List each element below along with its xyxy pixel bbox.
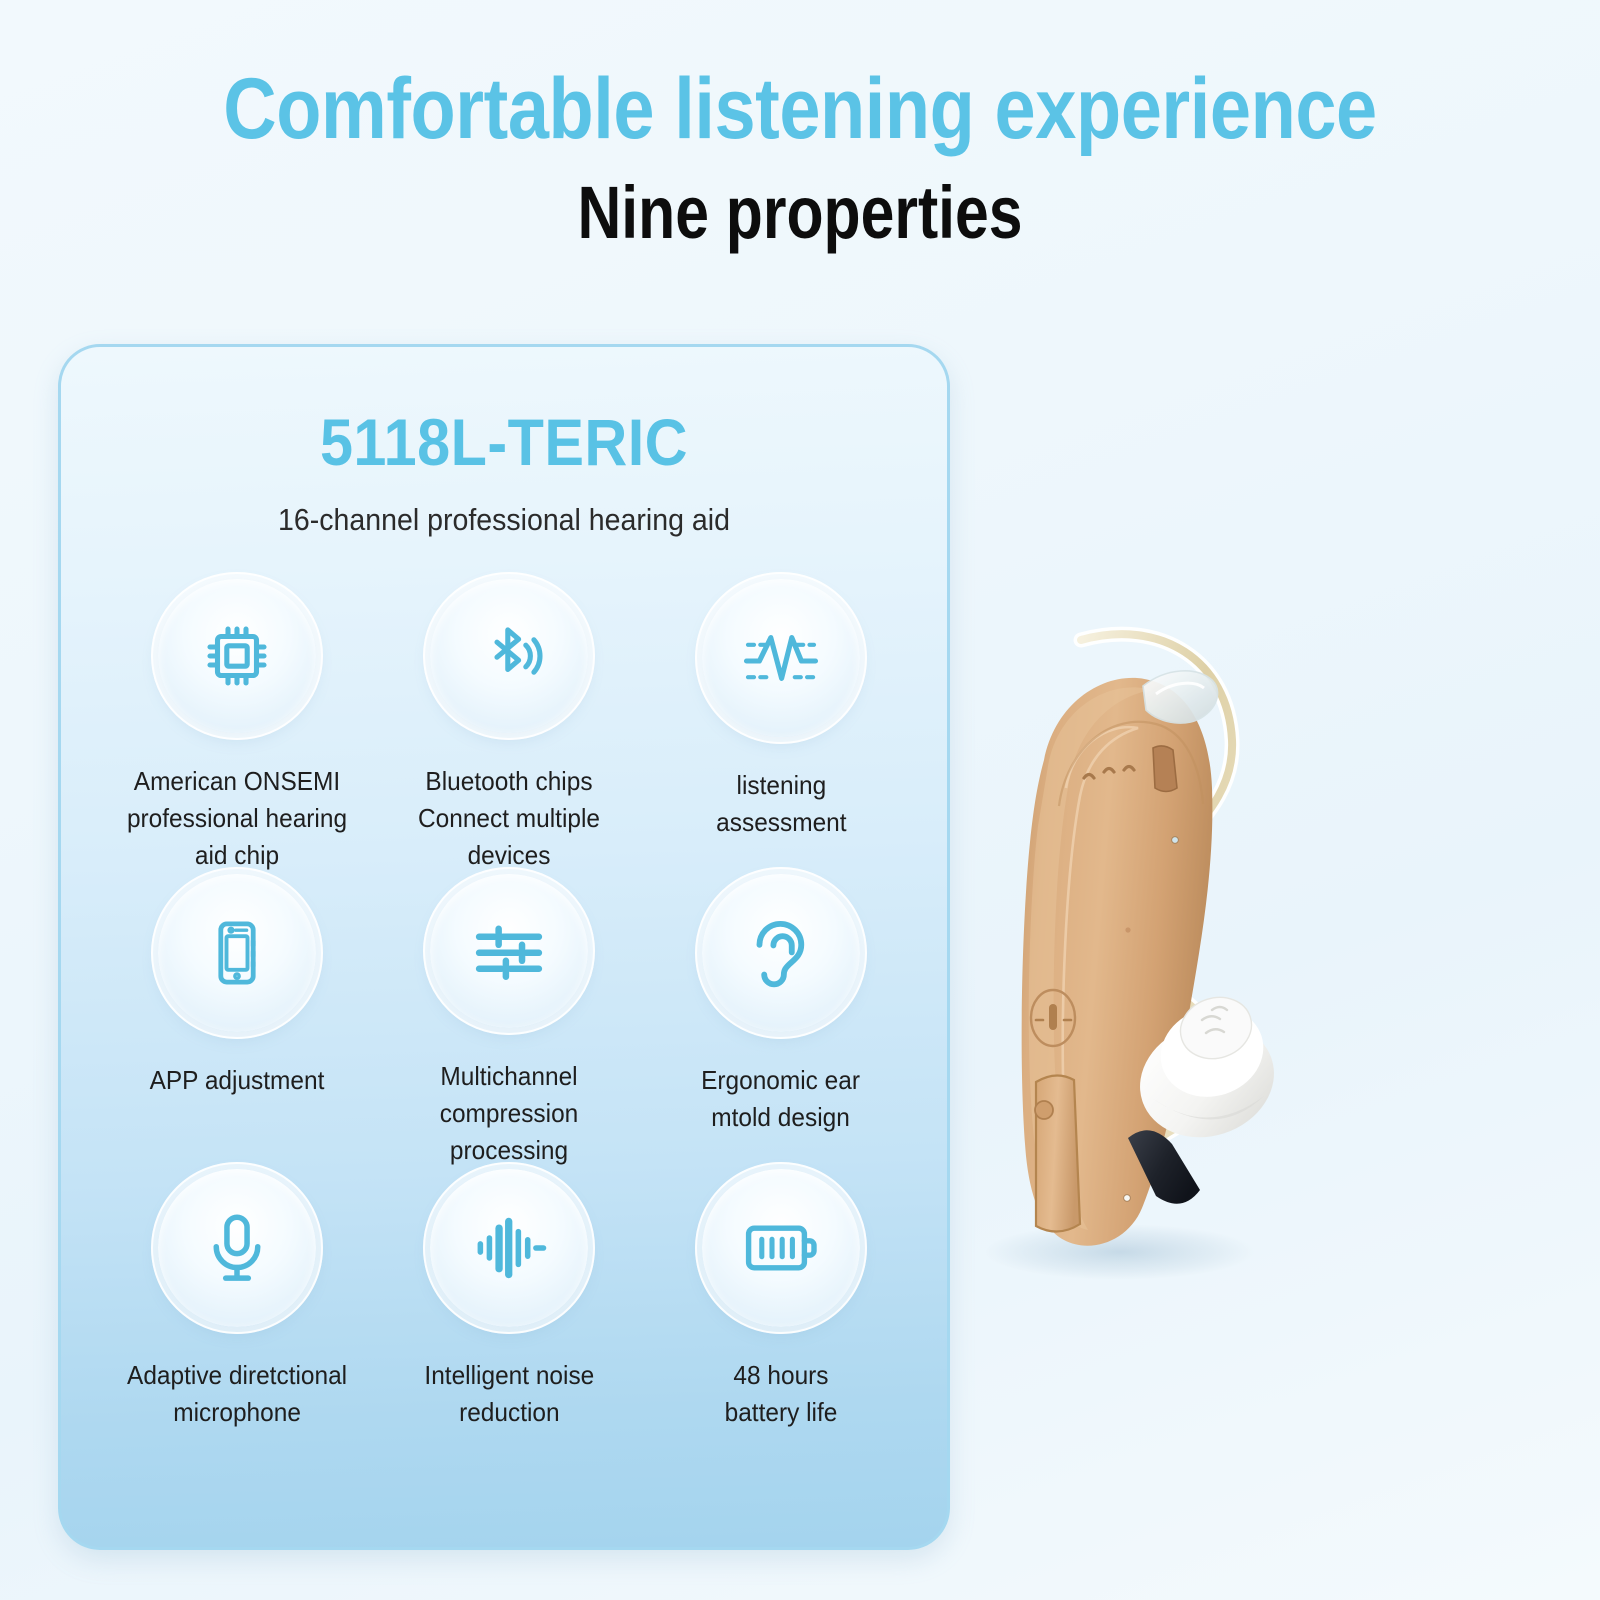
page-header: Comfortable listening experience Nine pr… bbox=[0, 0, 1600, 250]
feature-icon-badge bbox=[158, 579, 316, 733]
microphone-icon bbox=[204, 1210, 270, 1286]
battery-door[interactable] bbox=[1036, 1075, 1080, 1231]
feature-panel: 5118L-TERIC 16-channel professional hear… bbox=[58, 344, 950, 1550]
feature-label: APP adjustment bbox=[150, 1062, 325, 1099]
chip-icon bbox=[201, 620, 273, 692]
waveform-assessment-icon bbox=[742, 622, 820, 694]
feature-icon-badge bbox=[158, 874, 316, 1032]
feature-label: Ergonomic ear mtold design bbox=[702, 1062, 861, 1136]
feature-icon-badge bbox=[702, 579, 860, 737]
feature-label: Intelligent noise reduction bbox=[424, 1357, 594, 1431]
sliders-icon bbox=[472, 916, 546, 986]
feature-item-chip[interactable]: American ONSEMI professional hearing aid… bbox=[101, 579, 373, 874]
feature-icon-badge bbox=[158, 1169, 316, 1327]
product-model-title: 5118L-TERIC bbox=[105, 409, 902, 475]
feature-icon-badge bbox=[430, 874, 588, 1028]
product-tagline: 16-channel professional hearing aid bbox=[96, 504, 911, 535]
feature-icon-badge bbox=[430, 579, 588, 733]
feature-label: American ONSEMI professional hearing aid… bbox=[109, 763, 365, 874]
feature-icon-badge bbox=[702, 1169, 860, 1327]
ear-icon bbox=[746, 915, 816, 991]
battery-icon bbox=[742, 1217, 820, 1279]
feature-item-listening-assessment[interactable]: listening assessment bbox=[645, 579, 917, 874]
hearing-aid-illustration bbox=[960, 590, 1580, 1330]
feature-icon-badge bbox=[702, 874, 860, 1032]
lower-pin-hole bbox=[1124, 1195, 1131, 1202]
feature-item-directional-microphone[interactable]: Adaptive diretctional microphone bbox=[101, 1169, 373, 1464]
feature-label: Multichannel compression processing bbox=[381, 1058, 637, 1169]
feature-icon-badge bbox=[430, 1169, 588, 1327]
feature-item-multichannel-compression[interactable]: Multichannel compression processing bbox=[373, 874, 645, 1169]
battery-door-latch[interactable] bbox=[1035, 1101, 1053, 1119]
noise-bars-icon bbox=[471, 1212, 547, 1284]
feature-item-bluetooth[interactable]: Bluetooth chips Connect multiple devices bbox=[373, 579, 645, 874]
ear-hook-connector bbox=[1143, 671, 1218, 723]
feature-label: Bluetooth chips Connect multiple devices bbox=[381, 763, 637, 874]
feature-item-app-adjustment[interactable]: APP adjustment bbox=[101, 874, 373, 1169]
program-button-slot[interactable] bbox=[1049, 1004, 1057, 1030]
feature-item-noise-reduction[interactable]: Intelligent noise reduction bbox=[373, 1169, 645, 1464]
feature-label: 48 hours battery life bbox=[725, 1357, 838, 1431]
page-subheadline: Nine properties bbox=[144, 176, 1456, 250]
feature-item-battery-life[interactable]: 48 hours battery life bbox=[645, 1169, 917, 1464]
feature-label: listening assessment bbox=[716, 767, 846, 841]
product-image bbox=[960, 590, 1580, 1330]
feature-label: Adaptive diretctional microphone bbox=[127, 1357, 347, 1431]
smartphone-icon bbox=[201, 917, 273, 989]
feature-item-ergonomic-earmold[interactable]: Ergonomic ear mtold design bbox=[645, 874, 917, 1169]
feature-grid: American ONSEMI professional hearing aid… bbox=[61, 579, 947, 1464]
bluetooth-icon bbox=[473, 620, 545, 692]
program-slot bbox=[1153, 746, 1177, 792]
mid-pin-hole bbox=[1125, 927, 1130, 932]
page-headline: Comfortable listening experience bbox=[112, 66, 1488, 152]
indicator-led bbox=[1172, 837, 1179, 844]
